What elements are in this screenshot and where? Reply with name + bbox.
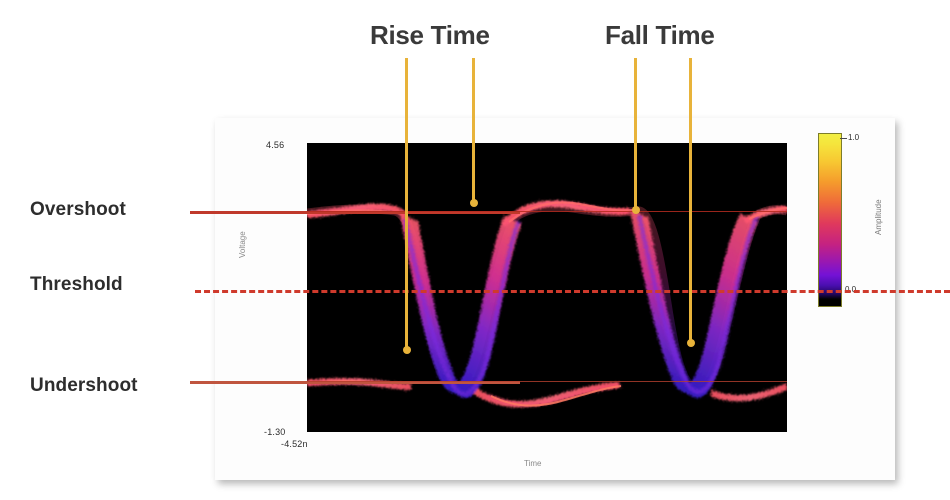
fall-time-end-pointer [689,58,692,343]
undershoot-line-overlay [307,381,787,382]
rise-time-label: Rise Time [370,20,490,51]
overshoot-label: Overshoot [30,199,126,221]
rise-time-start-pointer [405,58,408,350]
pointer-dot [403,346,411,354]
pointer-dot [470,199,478,207]
eye-diagram-traces [307,143,787,432]
overshoot-line-overlay [307,211,787,212]
fall-time-label: Fall Time [605,20,715,51]
pointer-dot [687,339,695,347]
figure-stage: 4.56 -1.30 -4.52n Voltage Time 1.0 0.0 A… [0,0,950,500]
fall-time-start-pointer [634,58,637,210]
colorbar-max-tick [840,138,847,139]
undershoot-label: Undershoot [30,375,138,397]
amplitude-colorbar [818,133,840,305]
y-axis-min-label: -1.30 [264,427,286,437]
threshold-line [195,290,950,293]
y-axis-max-label: 4.56 [266,140,284,150]
colorbar-title: Amplitude [874,199,883,235]
eye-diagram-plot [307,143,787,432]
pointer-dot [632,206,640,214]
y-axis-title: Voltage [238,231,247,258]
threshold-label: Threshold [30,274,123,296]
x-axis-title: Time [524,459,541,468]
colorbar-gradient [818,133,842,307]
colorbar-max-label: 1.0 [848,133,859,142]
rise-time-end-pointer [472,58,475,203]
x-axis-min-label: -4.52n [281,439,308,449]
